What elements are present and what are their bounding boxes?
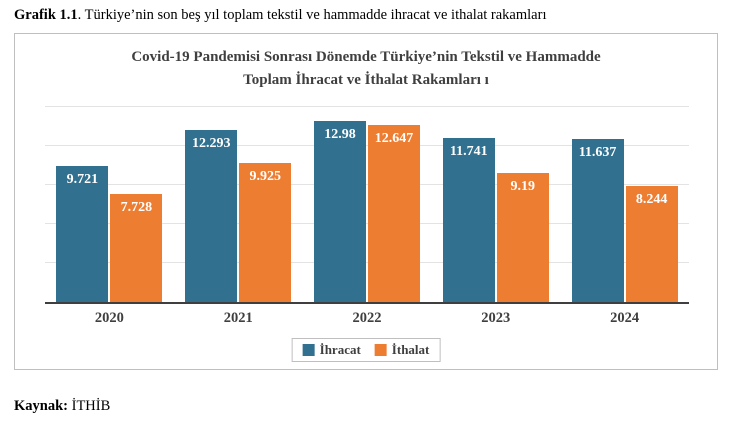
x-tick-2024: 2024	[569, 310, 681, 327]
legend-swatch-icon	[375, 344, 387, 356]
chart-container: Covid-19 Pandemisi Sonrası Dönemde Türki…	[14, 33, 718, 370]
bar-value: 12.98	[314, 127, 366, 143]
caption-lead: Grafik 1.1	[14, 7, 78, 23]
bar-value: 11.637	[572, 145, 624, 161]
bar-value: 8.244	[626, 192, 678, 208]
bar-ihracat-2021[interactable]: 12.293	[185, 130, 237, 302]
bar-groups: 9.721 7.728 12.293 9.925 12.98 12.647	[45, 106, 689, 302]
x-axis-line	[45, 302, 689, 304]
bar-ithalat-2020[interactable]: 7.728	[110, 194, 162, 302]
bar-group-2022: 12.98 12.647	[311, 106, 423, 302]
figure-caption: Grafik 1.1. Türkiye’nin son beş yıl topl…	[14, 6, 720, 26]
legend-label-ithalat: İthalat	[392, 342, 430, 358]
bar-ihracat-2024[interactable]: 11.637	[572, 139, 624, 302]
x-tick-2022: 2022	[311, 310, 423, 327]
x-tick-2020: 2020	[53, 310, 165, 327]
x-tick-2023: 2023	[440, 310, 552, 327]
bar-ithalat-2023[interactable]: 9.19	[497, 173, 549, 302]
chart-title: Covid-19 Pandemisi Sonrası Dönemde Türki…	[15, 46, 717, 91]
bar-ihracat-2022[interactable]: 12.98	[314, 121, 366, 302]
bar-ithalat-2022[interactable]: 12.647	[368, 125, 420, 302]
bar-group-2023: 11.741 9.19	[440, 106, 552, 302]
bar-ithalat-2024[interactable]: 8.244	[626, 186, 678, 302]
bar-ihracat-2023[interactable]: 11.741	[443, 138, 495, 302]
bar-ihracat-2020[interactable]: 9.721	[56, 166, 108, 302]
bar-ithalat-2021[interactable]: 9.925	[239, 163, 291, 302]
caption-rest: . Türkiye’nin son beş yıl toplam tekstil…	[78, 7, 547, 23]
bar-value: 12.647	[368, 131, 420, 147]
bar-value: 9.721	[56, 172, 108, 188]
bar-value: 9.925	[239, 169, 291, 185]
chart-title-line1: Covid-19 Pandemisi Sonrası Dönemde Türki…	[15, 46, 717, 69]
bar-group-2021: 12.293 9.925	[182, 106, 294, 302]
legend-item-ihracat[interactable]: İhracat	[303, 342, 361, 358]
bar-group-2024: 11.637 8.244	[569, 106, 681, 302]
x-tick-2021: 2021	[182, 310, 294, 327]
legend-item-ithalat[interactable]: İthalat	[375, 342, 430, 358]
bar-value: 11.741	[443, 144, 495, 160]
chart-legend: İhracat İthalat	[292, 338, 441, 362]
legend-swatch-icon	[303, 344, 315, 356]
source-value: İTHİB	[72, 398, 111, 414]
x-axis-labels: 2020 2021 2022 2023 2024	[45, 310, 689, 327]
source-note: Kaynak: İTHİB	[14, 398, 110, 415]
bar-value: 7.728	[110, 200, 162, 216]
legend-label-ihracat: İhracat	[320, 342, 361, 358]
bar-group-2020: 9.721 7.728	[53, 106, 165, 302]
bar-value: 12.293	[185, 136, 237, 152]
source-label: Kaynak:	[14, 398, 68, 414]
chart-title-line2: Toplam İhracat ve İthalat Rakamları ı	[15, 69, 717, 92]
bar-value: 9.19	[497, 179, 549, 195]
